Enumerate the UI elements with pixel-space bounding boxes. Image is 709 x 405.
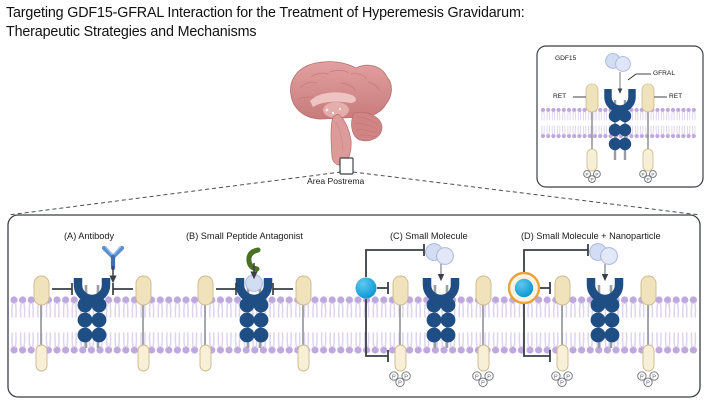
svg-text:P: P [642, 172, 645, 177]
page-title: Targeting GDF15-GFRAL Interaction for th… [6, 4, 696, 42]
svg-text:P: P [475, 374, 479, 380]
svg-text:P: P [652, 374, 656, 380]
panel-label-b: (B) Small Peptide Antagonist [186, 231, 303, 241]
panel-b-bound-ligand [246, 275, 263, 292]
svg-text:P: P [595, 172, 598, 177]
panel-d-small-molecule-icon [515, 279, 533, 297]
inset-panel: PPP PPP [537, 46, 703, 187]
svg-text:P: P [646, 381, 650, 387]
svg-text:P: P [651, 172, 654, 177]
svg-text:P: P [590, 177, 593, 182]
svg-text:P: P [566, 374, 570, 380]
figure-canvas: PPP PPP [0, 0, 709, 405]
panel-c-small-molecule-icon [356, 278, 377, 299]
svg-text:P: P [646, 177, 649, 182]
panel-label-a: (A) Antibody [64, 231, 114, 241]
inset-ret-left-label: RET [553, 93, 566, 100]
callout-line-left [8, 172, 341, 215]
inset-ret-right-label: RET [669, 93, 682, 100]
inset-gdf15-label: GDF15 [555, 55, 576, 62]
svg-text:P: P [554, 374, 558, 380]
svg-text:P: P [481, 381, 485, 387]
svg-text:P: P [487, 374, 491, 380]
panel-label-c: (C) Small Molecule [390, 231, 468, 241]
svg-text:P: P [586, 172, 589, 177]
inset-gfral-label: GFRAL [653, 70, 675, 77]
area-postrema-label: Area Postrema [307, 176, 364, 186]
panel-label-d: (D) Small Molecule + Nanoparticle [521, 231, 661, 241]
panel-d-nanoparticle-icon [509, 273, 539, 303]
svg-text:P: P [640, 374, 644, 380]
svg-text:P: P [560, 381, 564, 387]
svg-text:P: P [398, 381, 402, 387]
area-postrema-marker [340, 158, 353, 174]
svg-text:P: P [404, 374, 408, 380]
brain-illustration [291, 62, 392, 166]
svg-text:P: P [392, 374, 396, 380]
